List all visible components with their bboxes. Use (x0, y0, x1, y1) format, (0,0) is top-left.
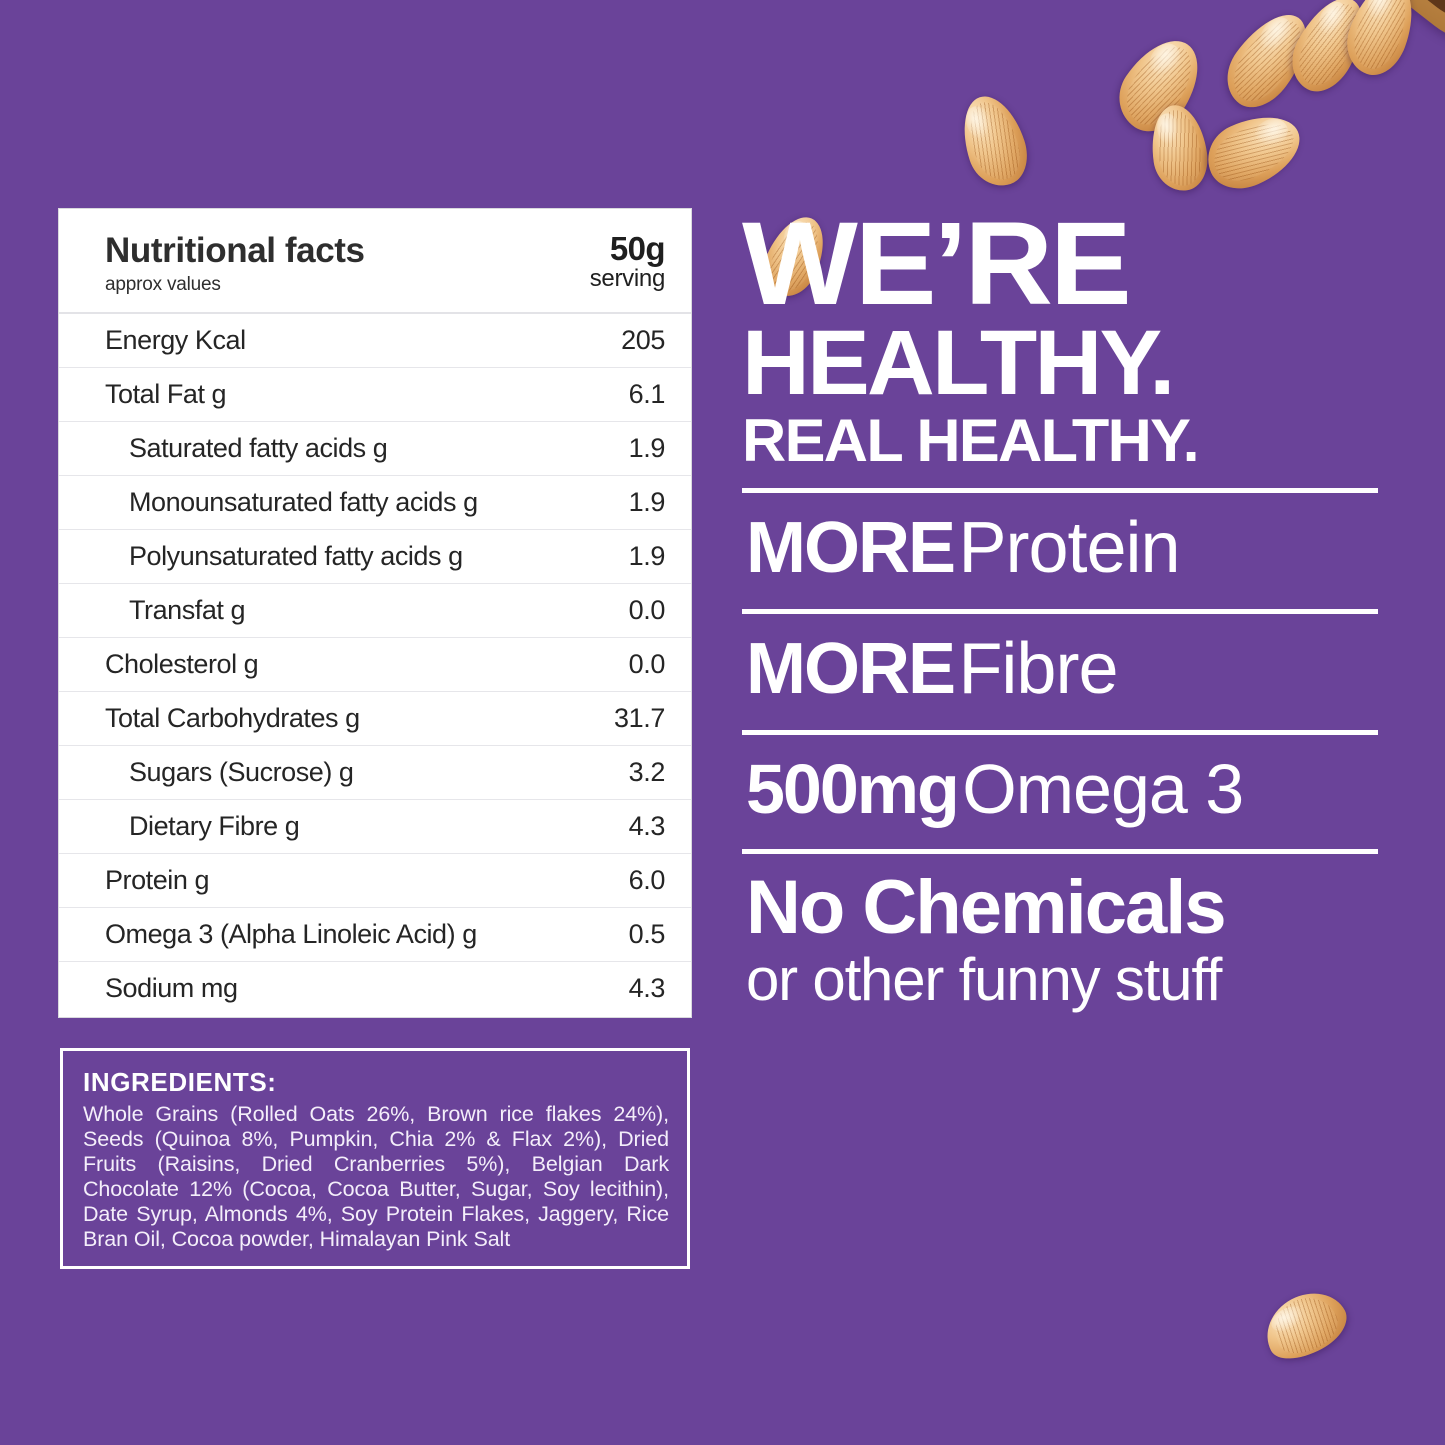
nutrition-row-label: Protein g (105, 865, 209, 896)
divider (742, 488, 1378, 493)
nutrition-facts-subtitle: approx values (105, 274, 365, 296)
nutrition-row-label: Polyunsaturated fatty acids g (105, 541, 463, 572)
nutrition-row: Energy Kcal205 (59, 314, 691, 368)
divider (742, 849, 1378, 854)
nutrition-row-label: Total Fat g (105, 379, 226, 410)
nutrition-row-value: 3.2 (629, 757, 665, 788)
nutrition-row: Sodium mg4.3 (59, 962, 691, 1015)
nutrition-row-value: 0.0 (629, 595, 665, 626)
nutrition-row-label: Cholesterol g (105, 649, 258, 680)
nutrition-facts-title: Nutritional facts (105, 233, 365, 269)
nutrition-row: Omega 3 (Alpha Linoleic Acid) g0.5 (59, 908, 691, 962)
divider (742, 609, 1378, 614)
nutrition-facts-rows: Energy Kcal205Total Fat g6.1Saturated fa… (59, 314, 691, 1017)
nutrition-facts-header: Nutritional facts approx values 50g serv… (59, 209, 691, 314)
ingredients-title: INGREDIENTS: (83, 1067, 669, 1098)
nutrition-row: Dietary Fibre g4.3 (59, 800, 691, 854)
benefit-omega3-light: Omega 3 (962, 750, 1243, 828)
marketing-column: WE’RE HEALTHY. REAL HEALTHY. MORE Protei… (742, 210, 1382, 1014)
nutrition-row-value: 4.3 (629, 811, 665, 842)
nutrition-row-value: 6.1 (629, 379, 665, 410)
nutrition-row-value: 205 (621, 325, 665, 356)
nutrition-row: Transfat g0.0 (59, 584, 691, 638)
benefit-fibre: MORE Fibre (746, 628, 1382, 710)
nutrition-row: Protein g6.0 (59, 854, 691, 908)
nutrition-facts-card: Nutritional facts approx values 50g serv… (58, 208, 692, 1018)
nutrition-row: Monounsaturated fatty acids g1.9 (59, 476, 691, 530)
nutrition-row: Total Carbohydrates g31.7 (59, 692, 691, 746)
nutrition-row-label: Saturated fatty acids g (105, 433, 387, 464)
nutrition-row: Saturated fatty acids g1.9 (59, 422, 691, 476)
almond-icon (952, 88, 1036, 193)
nutrition-row-label: Energy Kcal (105, 325, 246, 356)
benefit-fibre-strong: MORE (746, 629, 954, 709)
headline-line-2: HEALTHY. (742, 321, 1395, 406)
ingredients-box: INGREDIENTS: Whole Grains (Rolled Oats 2… (60, 1048, 690, 1269)
nutrition-row-value: 1.9 (629, 487, 665, 518)
product-packaging-panel: Nutritional facts approx values 50g serv… (0, 0, 1445, 1445)
nutrition-row-value: 1.9 (629, 433, 665, 464)
benefit-fibre-light: Fibre (958, 629, 1117, 709)
headline-line-3: REAL HEALTHY. (742, 413, 1395, 468)
divider (742, 730, 1378, 735)
nutrition-row-value: 1.9 (629, 541, 665, 572)
benefit-protein: MORE Protein (746, 507, 1382, 589)
nutrition-row-value: 6.0 (629, 865, 665, 896)
nutrition-row: Cholesterol g0.0 (59, 638, 691, 692)
benefit-protein-light: Protein (958, 508, 1179, 588)
nutrition-row: Polyunsaturated fatty acids g1.9 (59, 530, 691, 584)
nutrition-row-label: Omega 3 (Alpha Linoleic Acid) g (105, 919, 477, 950)
benefit-omega3-strong: 500mg (746, 750, 958, 828)
almond-icon (1254, 1280, 1355, 1371)
nutrition-row-label: Monounsaturated fatty acids g (105, 487, 478, 518)
ingredients-text: Whole Grains (Rolled Oats 26%, Brown ric… (83, 1102, 669, 1252)
benefit-protein-strong: MORE (746, 508, 954, 588)
serving-size-value: 50g (590, 232, 665, 265)
nutrition-row-label: Dietary Fibre g (105, 811, 299, 842)
benefit-omega3: 500mg Omega 3 (746, 749, 1382, 829)
nutrition-row-label: Total Carbohydrates g (105, 703, 360, 734)
claim-no-chemicals: No Chemicals (746, 864, 1382, 951)
nutrition-row-value: 31.7 (614, 703, 665, 734)
nutrition-row-value: 4.3 (629, 973, 665, 1004)
claim-no-chemicals-sub: or other funny stuff (746, 945, 1382, 1014)
nutrition-row: Total Fat g6.1 (59, 368, 691, 422)
nutrition-row-label: Sodium mg (105, 973, 238, 1004)
nutrition-row-label: Transfat g (105, 595, 245, 626)
nutrition-row-value: 0.0 (629, 649, 665, 680)
nutrition-row-value: 0.5 (629, 919, 665, 950)
headline-line-1: WE’RE (742, 210, 1408, 319)
nutrition-row: Sugars (Sucrose) g3.2 (59, 746, 691, 800)
nutrition-row-label: Sugars (Sucrose) g (105, 757, 354, 788)
serving-size-label: serving (590, 265, 665, 293)
